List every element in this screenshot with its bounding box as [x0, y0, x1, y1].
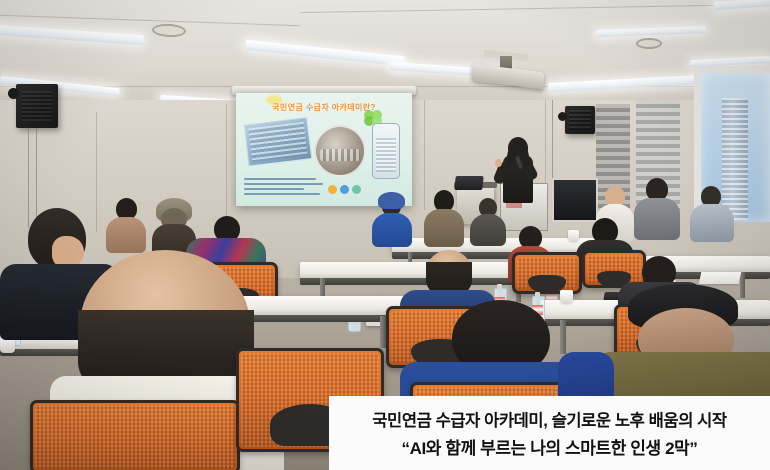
handout — [699, 272, 742, 284]
wall-speaker-left — [16, 84, 58, 128]
slide-building-photo — [244, 117, 313, 166]
photo-screenshot: 국민연금 수급자 아카데미란? — [0, 0, 770, 470]
attendee — [690, 186, 734, 242]
wall-seam — [226, 104, 227, 224]
window-frame — [694, 66, 770, 73]
speaker-cable — [552, 100, 553, 184]
ceiling-speaker-icon — [636, 38, 662, 49]
slide-logo-row — [328, 185, 361, 194]
wall-speaker-right — [565, 106, 595, 134]
attendee — [424, 190, 464, 246]
ceiling-projector — [470, 56, 544, 86]
side-monitor — [552, 178, 598, 222]
slide-circle-photo — [314, 125, 366, 177]
slide-smartphone-mockup — [372, 123, 400, 179]
paper-cup — [0, 338, 15, 353]
projection-screen: 국민연금 수급자 아카데미란? — [236, 93, 412, 206]
slide-title: 국민연금 수급자 아카데미란? — [236, 102, 412, 113]
beanie-hat — [378, 192, 405, 209]
speaker-cable — [36, 128, 37, 220]
speaker-mount — [558, 112, 567, 121]
laptop — [454, 176, 483, 190]
slide-body-text — [244, 178, 330, 198]
caption-overlay: 국민연금 수급자 아카데미, 슬기로운 노후 배움의 시작 “AI와 함께 부르… — [329, 396, 770, 470]
caption-line-1: 국민연금 수급자 아카데미, 슬기로운 노후 배움의 시작 — [372, 407, 726, 431]
chair — [512, 252, 582, 294]
caption-line-2: “AI와 함께 부르는 나의 스마트한 인생 2막” — [402, 434, 698, 459]
attendee — [634, 178, 680, 240]
attendee — [470, 198, 506, 246]
speaker-mount — [8, 88, 19, 99]
attendee — [372, 196, 412, 246]
chair — [30, 400, 240, 470]
